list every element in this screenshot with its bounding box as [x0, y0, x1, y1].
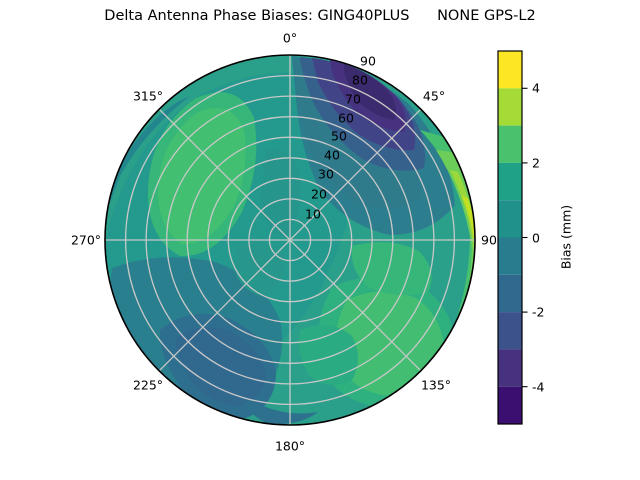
radial-label-50: 50: [331, 129, 347, 144]
polar-grid: [105, 55, 475, 425]
radial-label-30: 30: [318, 167, 334, 182]
colorbar-band-10: [498, 51, 522, 88]
colorbar-band-1: [498, 387, 522, 424]
colorbar-band-3: [498, 312, 522, 349]
azimuth-label-135: 135°: [421, 378, 451, 393]
colorbar-band-2: [498, 349, 522, 386]
colorbar-axis-label: Bias (mm): [559, 205, 574, 269]
radial-label-70: 70: [345, 92, 361, 107]
colorbar-tick-neg2: -2: [532, 305, 544, 320]
radial-label-40: 40: [324, 148, 340, 163]
radial-label-80: 80: [352, 73, 368, 88]
colorbar-band-8: [498, 126, 522, 163]
colorbar-tick-2: 2: [532, 156, 540, 171]
colorbar-tick-4: 4: [532, 81, 540, 96]
colorbar-band-7: [498, 163, 522, 200]
azimuth-label-270: 270°: [71, 233, 101, 248]
colorbar-band-4: [498, 275, 522, 312]
colorbar-band-5: [498, 238, 522, 275]
colorbar-gradient-bands: [498, 51, 522, 424]
radial-label-60: 60: [338, 111, 354, 126]
azimuth-label-0: 0°: [283, 31, 297, 46]
radial-label-10: 10: [305, 207, 321, 222]
azimuth-label-225: 225°: [133, 378, 163, 393]
colorbar-band-9: [498, 88, 522, 125]
azimuth-label-90: 90: [481, 233, 497, 248]
colorbar: [498, 51, 528, 424]
colorbar-tick-neg4: -4: [532, 380, 544, 395]
figure-canvas: Delta Antenna Phase Biases: GING40PLUS N…: [0, 0, 640, 480]
azimuth-label-315: 315°: [133, 89, 163, 104]
colorbar-band-6: [498, 200, 522, 237]
azimuth-label-45: 45°: [423, 89, 445, 104]
azimuth-label-180: 180°: [275, 439, 305, 454]
radial-label-20: 20: [311, 187, 327, 202]
colorbar-ticks: [522, 88, 528, 386]
colorbar-tick-0: 0: [532, 231, 540, 246]
radial-label-90: 90: [360, 54, 376, 69]
